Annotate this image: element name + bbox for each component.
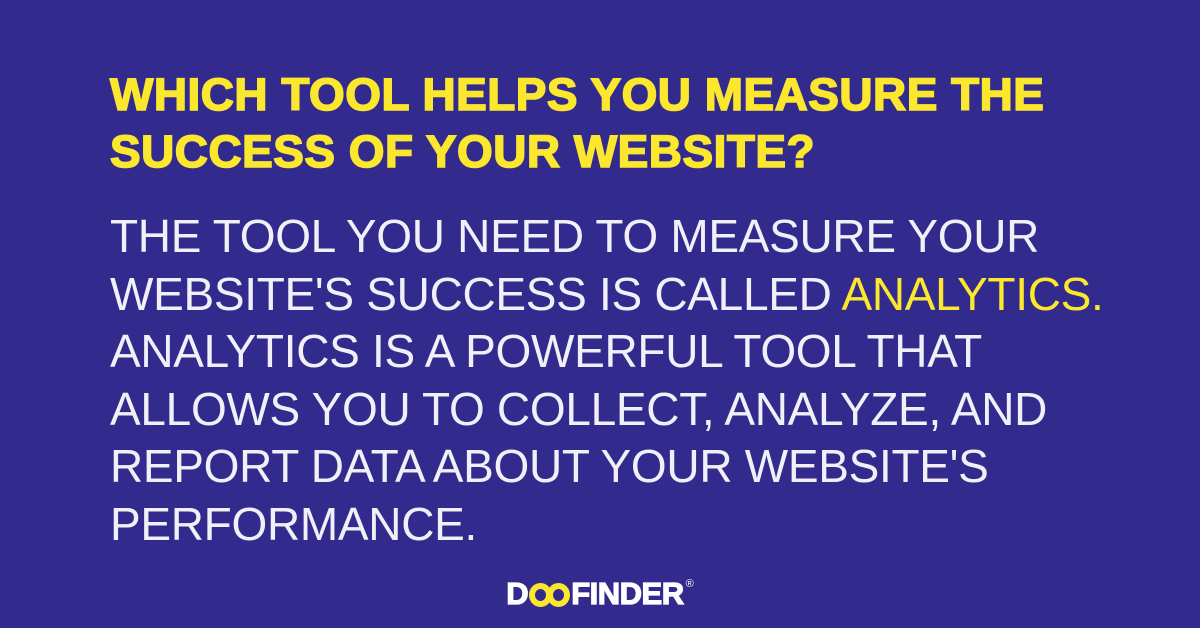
headline-line-2: SUCCESS OF YOUR WEBSITE? (110, 123, 1089, 180)
logo-letter-d: D (506, 578, 528, 609)
body-line-5: REPORT DATA ABOUT YOUR WEBSITE'S (110, 438, 1070, 496)
body-line-1: THE TOOL YOU NEED TO MEASURE YOUR (110, 208, 1070, 266)
body-line-6: PERFORMANCE. (110, 496, 1070, 554)
infinity-icon (529, 583, 570, 607)
highlight-analytics: ANALYTICS. (842, 268, 1104, 320)
social-card: WHICH TOOL HELPS YOU MEASURE THE SUCCESS… (0, 0, 1200, 628)
registered-trademark-icon: ® (686, 579, 694, 590)
logo-wrap: D FINDER ® (506, 578, 693, 612)
logo-text: D FINDER (506, 578, 683, 609)
body-line-3: ANALYTICS IS A POWERFUL TOOL THAT (110, 323, 1070, 381)
logo-wordmark-suffix: FINDER (571, 578, 683, 609)
body-copy: THE TOOL YOU NEED TO MEASURE YOUR WEBSIT… (110, 208, 1070, 553)
infinity-ring-right (547, 583, 570, 607)
headline-line-1: WHICH TOOL HELPS YOU MEASURE THE (110, 66, 1089, 123)
body-line-2: WEBSITE'S SUCCESS IS CALLED ANALYTICS. (110, 266, 1070, 324)
body-line-2-text: WEBSITE'S SUCCESS IS CALLED (110, 268, 842, 320)
brand-logo: D FINDER ® (0, 578, 1200, 612)
body-line-4: ALLOWS YOU TO COLLECT, ANALYZE, AND (110, 381, 1070, 439)
page-title: WHICH TOOL HELPS YOU MEASURE THE SUCCESS… (110, 66, 1089, 180)
